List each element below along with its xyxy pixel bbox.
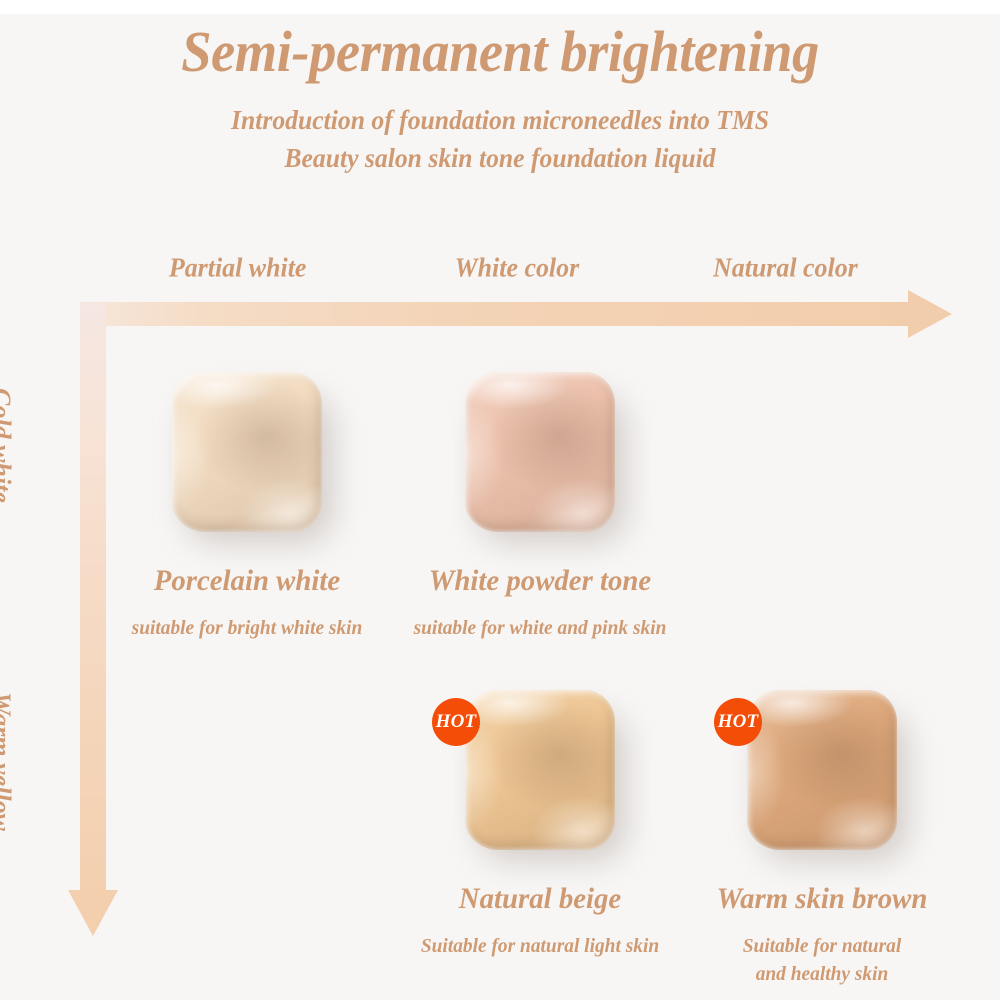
- product-description: Suitable for natural and healthy skin: [667, 932, 977, 989]
- product-name: White powder tone: [386, 563, 693, 600]
- axis-label-white-color: White color: [455, 253, 580, 284]
- product-shade-chart: Semi-permanent brightening Introduction …: [0, 0, 1000, 1000]
- product-name: Porcelain white: [93, 563, 400, 600]
- product-description: suitable for white and pink skin: [385, 614, 695, 642]
- arrow-right-icon: [908, 290, 952, 338]
- product-card-warm-skin-brown[interactable]: HOT Warm skin brown Suitable for natural…: [662, 690, 982, 988]
- header: Semi-permanent brightening Introduction …: [0, 14, 1000, 178]
- product-card-natural-beige[interactable]: HOT Natural beige Suitable for natural l…: [380, 690, 700, 960]
- subtitle-line-2: Beauty salon skin tone foundation liquid: [25, 139, 975, 177]
- product-description-line-2: and healthy skin: [667, 960, 977, 988]
- product-card-porcelain-white[interactable]: Porcelain white suitable for bright whit…: [87, 372, 407, 642]
- product-card-white-powder-tone[interactable]: White powder tone suitable for white and…: [380, 372, 700, 642]
- axis-label-partial-white: Partial white: [169, 253, 307, 284]
- product-description-line-1: suitable for bright white skin: [92, 614, 402, 642]
- swatch-natural-beige: HOT: [380, 690, 700, 875]
- hot-badge: HOT: [714, 698, 762, 746]
- swatch-warm-skin-brown: HOT: [662, 690, 982, 875]
- foundation-blob-icon: [172, 372, 322, 532]
- foundation-blob-icon: [747, 690, 897, 850]
- axis-label-cold-white: Cold white: [0, 388, 16, 503]
- product-description-line-1: Suitable for natural: [667, 932, 977, 960]
- swatch-porcelain-white: [87, 372, 407, 557]
- product-name: Natural beige: [386, 881, 693, 918]
- axis-label-natural-color: Natural color: [713, 253, 858, 284]
- axis-label-warm-yellow: Warm yellow: [0, 692, 16, 831]
- product-name: Warm skin brown: [668, 881, 975, 918]
- foundation-blob-icon: [465, 690, 615, 850]
- subtitle-line-1: Introduction of foundation microneedles …: [25, 101, 975, 139]
- hot-badge: HOT: [432, 698, 480, 746]
- product-description-line-1: suitable for white and pink skin: [385, 614, 695, 642]
- top-edge-strip: [0, 0, 1000, 14]
- swatch-white-powder-tone: [380, 372, 700, 557]
- arrow-down-icon: [68, 890, 118, 936]
- blob-rim: [465, 372, 615, 532]
- blob-rim: [172, 372, 322, 532]
- horizontal-axis-bar: [88, 302, 916, 326]
- foundation-blob-icon: [465, 372, 615, 532]
- product-description: suitable for bright white skin: [92, 614, 402, 642]
- blob-rim: [465, 690, 615, 850]
- page-title: Semi-permanent brightening: [30, 14, 970, 85]
- horizontal-axis-arrow: [88, 302, 960, 326]
- page-subtitle: Introduction of foundation microneedles …: [25, 85, 975, 178]
- blob-rim: [747, 690, 897, 850]
- product-description-line-1: Suitable for natural light skin: [385, 932, 695, 960]
- product-description: Suitable for natural light skin: [385, 932, 695, 960]
